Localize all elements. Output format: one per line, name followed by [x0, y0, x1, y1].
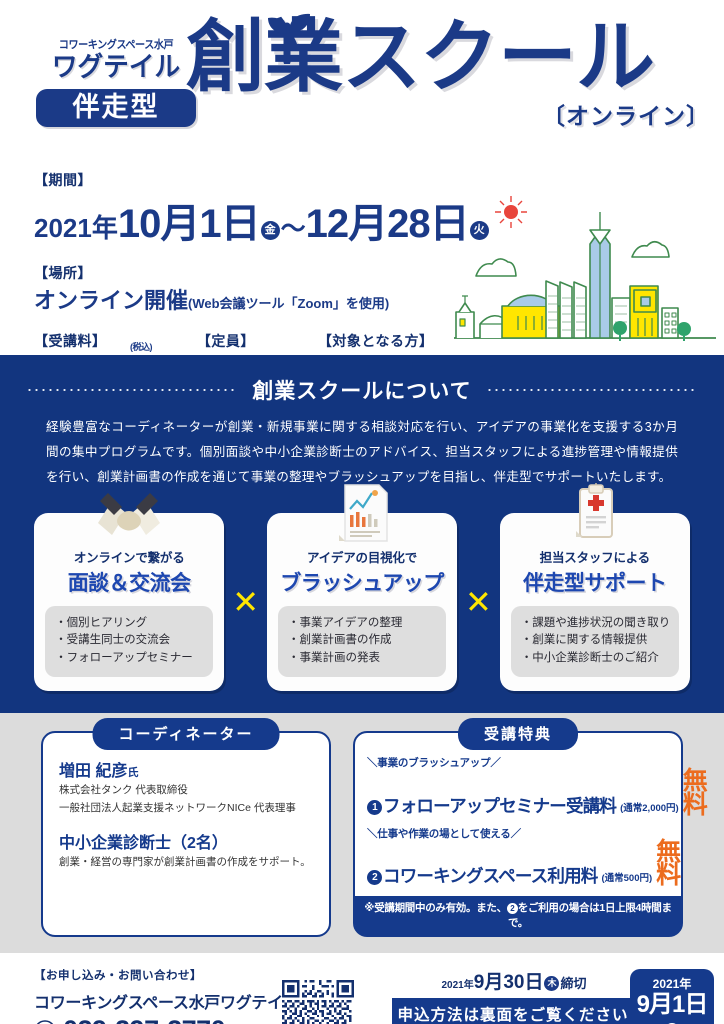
- start-day: 1日: [672, 991, 707, 1018]
- chart-document-icon: [325, 483, 399, 545]
- benefit-main-text: フォローアップセミナー受講料: [383, 796, 616, 816]
- apply-method-bar[interactable]: 申込方法は裏面をご覧ください ▸▸: [392, 998, 634, 1024]
- feature-cards: オンラインで繋がる 面談＆交流会 ・個別ヒアリング ・受講生同士の交流会 ・フォ…: [0, 513, 724, 691]
- feature-card-title: 伴走型サポート: [511, 567, 679, 597]
- benefit-number: 2: [367, 870, 382, 885]
- feature-card-sub: アイデアの目視化で: [278, 547, 446, 566]
- list-item: ・フォローアップセミナー: [55, 650, 203, 668]
- apply-block: 2021年9月30日木締切 申込方法は裏面をご覧ください ▸▸ https://…: [392, 967, 724, 1024]
- sprout-icon: [260, 12, 316, 64]
- period-end-day: 28日: [387, 202, 469, 246]
- coordinator-tab-label: コーディネーター: [93, 718, 280, 750]
- benefits-panel: 受講特典 ＼事業のブラッシュアップ／ 1フォローアップセミナー受講料 (通常2,…: [353, 731, 683, 937]
- benefit-number: 1: [367, 800, 382, 815]
- place-label: 【場所】: [34, 263, 504, 283]
- period-tilde: 〜: [281, 215, 306, 243]
- feature-card-list: ・課題や進捗状況の聞き取り ・創業に関する情報提供 ・中小企業診断士のご紹介: [511, 606, 679, 677]
- registration-start-badge: 2021年 9月1日水 受付開始 定員に達し次第締切: [630, 969, 714, 1024]
- coordinator-role-2: 一般社団法人起業支援ネットワークNICe 代表理事: [59, 801, 313, 817]
- feature-card-list: ・個別ヒアリング ・受講生同士の交流会 ・フォローアップセミナー: [45, 606, 213, 677]
- benefit-main-text: コワーキングスペース利用料: [383, 866, 597, 886]
- deadline-dow: 木: [544, 976, 559, 991]
- list-item: ・中小企業診断士のご紹介: [521, 650, 669, 668]
- about-section: 創業スクールについて 経験豊富なコーディネーターが創業・新規事業に関する相談対応…: [0, 355, 724, 713]
- about-section-title: 創業スクールについて: [252, 375, 471, 405]
- coordinator-person-name: 増田 紀彦氏: [59, 757, 313, 781]
- brand-subtitle: コワーキングスペース水戸: [42, 36, 189, 52]
- benefit-free-label: 無料: [656, 841, 680, 889]
- dotted-rule-left: [26, 389, 238, 391]
- main-title-wrap: 創業スクール 〔オンライン〕: [186, 18, 716, 131]
- coordinator-group-name: 中小企業診断士（2名）: [59, 829, 313, 853]
- about-lead-text: 経験豊富なコーディネーターが創業・新規事業に関する相談対応を行い、アイデアの事業…: [46, 415, 678, 491]
- period-start-dow: 金: [261, 221, 280, 240]
- deadline-suffix: 締切: [560, 976, 586, 991]
- place-info: 【場所】 オンライン開催(Web会議ツール「Zoom」を使用): [34, 263, 504, 315]
- feature-card-title: ブラッシュアップ: [278, 567, 446, 597]
- period-year: 2021年: [34, 213, 118, 243]
- separator-x-2: ✕: [463, 586, 494, 618]
- title-online-label: 〔オンライン〕: [186, 97, 716, 131]
- feature-card-sub: オンラインで繋がる: [45, 547, 213, 566]
- brand-name: ワグテイル: [40, 52, 192, 83]
- benefit-original-price: (通常500円): [601, 870, 652, 884]
- benefit-lead: ＼事業のブラッシュアップ／: [367, 755, 669, 770]
- period-value: 2021年10月1日金〜12月28日火: [34, 191, 504, 249]
- start-month: 9月: [637, 991, 672, 1018]
- deadline-month: 9月: [474, 972, 504, 993]
- feature-card-sub: 担当スタッフによる: [511, 547, 679, 566]
- header-section: コワーキングスペース水戸 ワグテイル 伴走型 創業スクール 〔オンライン〕: [0, 0, 724, 355]
- start-year: 2021年: [630, 975, 714, 992]
- period-start-month: 10月: [118, 202, 200, 246]
- footer-inner: 【お申し込み・お問い合わせ】 コワーキングスペース水戸ワグテイル 029-297…: [0, 967, 724, 1024]
- clipboard-cross-icon: [558, 483, 632, 545]
- period-label: 【期間】: [34, 170, 504, 190]
- deadline-year: 2021年: [442, 980, 474, 991]
- brand-logo: コワーキングスペース水戸 ワグテイル 伴走型: [36, 36, 196, 127]
- fee-tax-note: (税込): [130, 340, 152, 353]
- place-value: オンライン開催(Web会議ツール「Zoom」を使用): [34, 283, 504, 315]
- benefit-free-label: 無料: [683, 770, 707, 818]
- details-section: コーディネーター 増田 紀彦氏 株式会社タンク 代表取締役 一般社団法人起業支援…: [0, 713, 724, 953]
- feature-card: アイデアの目視化で ブラッシュアップ ・事業アイデアの整理 ・創業計画書の作成 …: [267, 513, 457, 691]
- benefits-note-post: をご利用の場合は1日上限4時間まで。: [508, 902, 672, 929]
- phone-icon: [34, 1020, 56, 1024]
- list-item: ・創業計画書の作成: [288, 632, 436, 650]
- place-sub: (Web会議ツール「Zoom」を使用): [188, 296, 389, 311]
- place-main: オンライン開催: [34, 288, 188, 313]
- contact-tel[interactable]: 029-297-2770: [63, 1015, 225, 1024]
- feature-card-title: 面談＆交流会: [45, 567, 213, 597]
- benefits-note-number: 2: [507, 903, 518, 914]
- list-item: ・個別ヒアリング: [55, 615, 203, 633]
- flyer-page: コワーキングスペース水戸 ワグテイル 伴走型 創業スクール 〔オンライン〕: [0, 0, 724, 1024]
- feature-card: 担当スタッフによる 伴走型サポート ・課題や進捗状況の聞き取り ・創業に関する情…: [500, 513, 690, 691]
- handshake-icon: [92, 483, 166, 545]
- period-end-dow: 火: [470, 221, 489, 240]
- coordinator-name-text: 増田 紀彦: [59, 763, 127, 780]
- coordinator-panel: コーディネーター 増田 紀彦氏 株式会社タンク 代表取締役 一般社団法人起業支援…: [41, 731, 331, 937]
- dotted-rule-right: [486, 389, 698, 391]
- details-columns: コーディネーター 増田 紀彦氏 株式会社タンク 代表取締役 一般社団法人起業支援…: [0, 731, 724, 937]
- spacer: [59, 817, 313, 829]
- badge-bansou: 伴走型: [36, 89, 196, 127]
- list-item: ・事業アイデアの整理: [288, 615, 436, 633]
- coordinator-group-role: 創業・経営の専門家が創業計画書の作成をサポート。: [59, 855, 313, 871]
- period-end-month: 12月: [306, 202, 388, 246]
- list-item: ・事業計画の発表: [288, 650, 436, 668]
- benefit-lead: ＼仕事や作業の場として使える／: [367, 826, 669, 841]
- about-section-heading: 創業スクールについて: [0, 371, 724, 405]
- benefits-tab-label: 受講特典: [458, 718, 578, 750]
- list-item: ・課題や進捗状況の聞き取り: [521, 615, 669, 633]
- fee-label: 【受講料】: [34, 331, 197, 351]
- benefit-original-price: (通常2,000円): [620, 800, 679, 814]
- benefit-item: ＼事業のブラッシュアップ／ 1フォローアップセミナー受講料 (通常2,000円)…: [355, 755, 681, 818]
- period-start-day: 1日: [199, 202, 259, 246]
- target-label: 【対象となる方】: [318, 331, 504, 351]
- coordinator-name-suffix: 氏: [127, 767, 138, 779]
- list-item: ・創業に関する情報提供: [521, 632, 669, 650]
- benefit-row: 1フォローアップセミナー受講料 (通常2,000円) 無料: [367, 770, 669, 818]
- capacity-label: 【定員】: [197, 331, 318, 351]
- benefit-main: 1フォローアップセミナー受講料: [367, 793, 616, 818]
- feature-card-list: ・事業アイデアの整理 ・創業計画書の作成 ・事業計画の発表: [278, 606, 446, 677]
- footer-section: 【お申し込み・お問い合わせ】 コワーキングスペース水戸ワグテイル 029-297…: [0, 953, 724, 1024]
- start-date: 9月1日水: [630, 992, 714, 1024]
- list-item: ・受講生同士の交流会: [55, 632, 203, 650]
- benefits-note-pre: ※受講期間中のみ有効。また、: [364, 902, 507, 914]
- benefit-main: 2コワーキングスペース利用料: [367, 863, 597, 888]
- feature-card: オンラインで繋がる 面談＆交流会 ・個別ヒアリング ・受講生同士の交流会 ・フォ…: [34, 513, 224, 691]
- benefit-item: ＼仕事や作業の場として使える／ 2コワーキングスペース利用料 (通常500円) …: [355, 826, 681, 889]
- separator-x-1: ✕: [230, 586, 261, 618]
- benefit-row: 2コワーキングスペース利用料 (通常500円) 無料: [367, 841, 669, 889]
- deadline-day: 30日: [503, 972, 543, 993]
- coordinator-role-1: 株式会社タンク 代表取締役: [59, 783, 313, 799]
- benefits-note: ※受講期間中のみ有効。また、2をご利用の場合は1日上限4時間まで。: [355, 896, 681, 935]
